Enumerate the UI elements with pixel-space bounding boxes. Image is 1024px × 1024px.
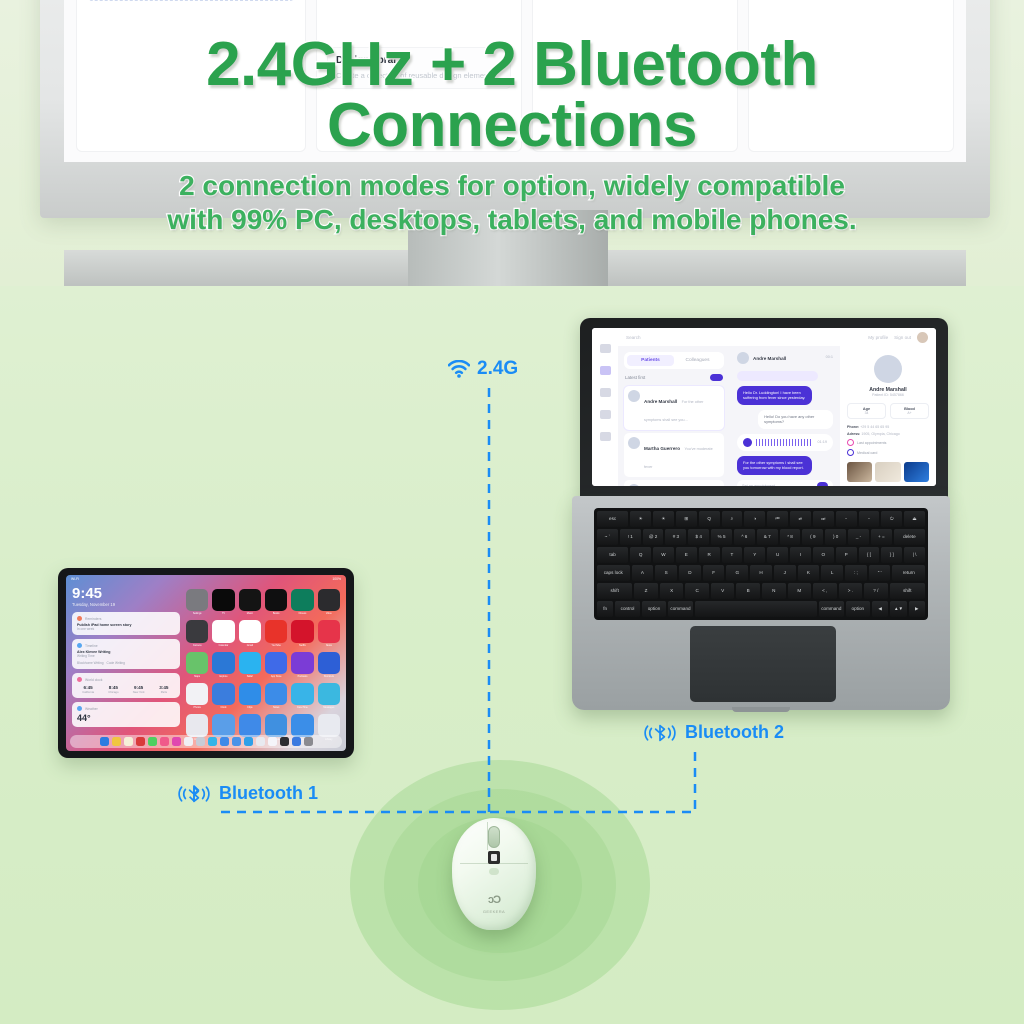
play-icon[interactable]	[743, 438, 752, 447]
app-icon[interactable]	[265, 620, 287, 642]
chat-icon[interactable]	[600, 388, 611, 397]
key--[interactable]: ⏮	[767, 511, 788, 527]
key-space[interactable]	[695, 601, 817, 617]
app-label: Voice	[318, 612, 340, 615]
key-m[interactable]: M	[788, 583, 812, 599]
world-clock-cell: 8:45 Chicago	[102, 685, 124, 694]
keyboard-row: fncontroloptioncommandcommandoption◀▲▼▶	[597, 601, 925, 617]
app-icon[interactable]	[212, 620, 234, 642]
tablet-app[interactable]: Maps	[186, 652, 208, 678]
timeline-chip: Code Writing	[107, 661, 125, 665]
app-label: Music	[239, 612, 261, 615]
key--[interactable]: ☀	[630, 511, 651, 527]
tablet-app[interactable]: News	[318, 620, 340, 646]
app-label: Gmail	[239, 644, 261, 647]
list-item[interactable]: Eddie Roberson I'm prescribing these med…	[624, 480, 724, 486]
key-o[interactable]: O	[813, 547, 834, 563]
widget-header: World clock	[77, 677, 175, 682]
dock-icon[interactable]	[280, 737, 289, 746]
key--[interactable]: ⏻	[881, 511, 902, 527]
key--5[interactable]: % 5	[711, 529, 732, 545]
key--[interactable]: ◑	[744, 511, 765, 527]
tablet-app[interactable]: Shortcuts	[318, 652, 340, 678]
dock-icon[interactable]	[124, 737, 133, 746]
key--[interactable]: ⌕	[722, 511, 743, 527]
chat-header-name: Andre Marshall	[753, 356, 786, 361]
action-label: Last appointments	[857, 441, 886, 445]
key--2[interactable]: @ 2	[643, 529, 664, 545]
chat-bubble: Hello! Do you have any other symptoms?	[758, 410, 833, 429]
key--4[interactable]: $ 4	[688, 529, 709, 545]
app-label: Camera	[186, 644, 208, 647]
label-bluetooth-2: Bluetooth 2	[642, 722, 784, 743]
app-icon[interactable]	[212, 683, 234, 705]
key--[interactable]: ▶	[909, 601, 925, 617]
keyboard-row: esc☀☀⊞Q⌕◑⏮⏯⏭ᵕᵕ⏻⏏	[597, 511, 925, 527]
brand-mark-icon: ɔƆ	[488, 894, 500, 906]
tablet-app[interactable]: App Store	[265, 652, 287, 678]
dock-icon[interactable]	[292, 737, 301, 746]
widget-header: Timeline	[77, 643, 175, 648]
app-icon[interactable]	[265, 589, 287, 611]
key--[interactable]: } ]	[881, 547, 902, 563]
notebook-icon[interactable]	[600, 410, 611, 419]
app-label: Explore	[212, 675, 234, 678]
keyboard-row: shiftZXCVBNM< ,> .? /shift	[597, 583, 925, 599]
app-label: Notes	[265, 706, 287, 709]
status-right: 100%	[332, 577, 341, 581]
dock-icon[interactable]	[100, 737, 109, 746]
dock-icon[interactable]	[304, 737, 313, 746]
tablet-app[interactable]: Fitness	[291, 589, 313, 615]
key-s[interactable]: S	[655, 565, 677, 581]
tablet-app[interactable]: TV	[212, 589, 234, 615]
app-icon[interactable]	[291, 652, 313, 674]
product-marketing-image: Time Total hours 23.7 hours ↗ 19% more t…	[0, 0, 1024, 1024]
label-24g: 2.4G	[448, 358, 518, 380]
key-return[interactable]: return	[892, 565, 925, 581]
tab-colleagues[interactable]: Colleagues	[674, 355, 721, 366]
headline-block: 2.4GHz + 2 Bluetooth Connections 2 conne…	[0, 34, 1024, 237]
key--[interactable]: ⏯	[790, 511, 811, 527]
tablet-app-grid: SettingsTVMusicBooksFitnessVoiceCameraCa…	[186, 586, 340, 741]
chat-bubble: For the other symptoms I shall see you t…	[737, 456, 812, 475]
app-label: TV	[212, 612, 234, 615]
thumbnail[interactable]	[847, 462, 872, 482]
world-clock-widget[interactable]: World clock 6:45 California 8:45 Chicago	[72, 673, 180, 698]
world-clock-row: 6:45 California 8:45 Chicago 9:45 New Yo…	[77, 685, 175, 694]
tablet-app[interactable]: Settings	[186, 589, 208, 615]
key-n[interactable]: N	[762, 583, 786, 599]
tablet-app[interactable]: FaceTime	[291, 683, 313, 709]
key-option[interactable]: option	[846, 601, 870, 617]
timeline-chips: Blockhome Writing Code Writing	[77, 661, 175, 665]
key--[interactable]: ~ `	[597, 529, 618, 545]
app-icon[interactable]	[318, 652, 340, 674]
widget-header-text: World clock	[85, 678, 102, 682]
tablet-app[interactable]: Photos	[186, 683, 208, 709]
widget-header-text: Weather	[85, 707, 98, 711]
tab-patients[interactable]: Patients	[627, 355, 674, 366]
list-tabs: Patients Colleagues	[624, 352, 724, 369]
thumbnail[interactable]	[904, 462, 929, 482]
dock-icon[interactable]	[268, 737, 277, 746]
world-clock-cell: 9:45 New York	[128, 685, 150, 694]
key-delete[interactable]: delete	[894, 529, 925, 545]
app-label: Shortcuts	[318, 675, 340, 678]
laptop-keyboard[interactable]: esc☀☀⊞Q⌕◑⏮⏯⏭ᵕᵕ⏻⏏~ `! 1@ 2# 3$ 4% 5^ 6& 7…	[594, 508, 928, 620]
key-y[interactable]: Y	[744, 547, 765, 563]
app-icon[interactable]	[291, 683, 313, 705]
key-i[interactable]: I	[790, 547, 811, 563]
app-icon[interactable]	[318, 620, 340, 642]
add-project-button[interactable]: + Add Project	[87, 0, 295, 1]
widget-sub: In one week	[77, 627, 175, 631]
key-l[interactable]: L	[821, 565, 843, 581]
key-e[interactable]: E	[676, 547, 697, 563]
profile-id: Patient ID: 5457866	[847, 393, 929, 397]
dock-icon[interactable]	[196, 737, 205, 746]
key--3[interactable]: # 3	[665, 529, 686, 545]
chat-audio-message[interactable]: 01:19	[737, 434, 833, 451]
app-icon[interactable]	[265, 652, 287, 674]
dock-icon[interactable]	[112, 737, 121, 746]
audio-duration: 01:19	[817, 440, 827, 446]
clock-city: California	[77, 690, 99, 694]
weather-widget[interactable]: Weather 44°	[72, 702, 180, 727]
thumbnail[interactable]	[875, 462, 900, 482]
tablet-app[interactable]: Camera	[186, 620, 208, 646]
tablet-app[interactable]: YouTube	[265, 620, 287, 646]
key-b[interactable]: B	[736, 583, 760, 599]
mouse-brand-logo: ɔƆ GEEKERA	[452, 890, 536, 914]
dock-icon[interactable]	[184, 737, 193, 746]
clock-city: Chicago	[102, 690, 124, 694]
key--1[interactable]: ! 1	[620, 529, 641, 545]
reminders-icon	[77, 616, 82, 621]
headline-line-2: Connections	[0, 95, 1024, 156]
mouse-dpi-button[interactable]	[488, 851, 500, 864]
key--[interactable]: ▲▼	[890, 601, 906, 617]
app-label: Messages	[318, 706, 340, 709]
key--[interactable]: ⊞	[676, 511, 697, 527]
avatar[interactable]	[917, 332, 928, 343]
key--[interactable]: _ -	[848, 529, 869, 545]
world-clock-cell: 3:45 Paris	[153, 685, 175, 694]
brand-name: GEEKERA	[452, 909, 536, 914]
label-bluetooth-1-text: Bluetooth 1	[219, 783, 318, 804]
stat-value: A+	[891, 411, 928, 415]
key-v[interactable]: V	[711, 583, 735, 599]
dock-icon[interactable]	[256, 737, 265, 746]
key-u[interactable]: U	[767, 547, 788, 563]
reminders-widget[interactable]: Reminders Publish iPad home screen story…	[72, 612, 180, 635]
my-profile-link[interactable]: My profile	[868, 335, 888, 340]
tablet-screen: Wi-Fi 100% 9:45 Tuesday, November 19 Rem…	[66, 575, 346, 751]
mouse-scroll-wheel[interactable]	[488, 826, 500, 848]
app-label: Podcasts	[291, 675, 313, 678]
key--[interactable]: " '	[869, 565, 891, 581]
key-h[interactable]: H	[750, 565, 772, 581]
tablet-app[interactable]: Messages	[318, 683, 340, 709]
chat-header-meta: 00:1	[826, 355, 833, 361]
key--[interactable]: ⏭	[813, 511, 834, 527]
key--[interactable]: : ;	[845, 565, 867, 581]
app-icon[interactable]	[265, 714, 287, 736]
tablet-clock: 9:45	[72, 586, 180, 601]
bluetooth-broadcast-icon	[642, 723, 678, 743]
wifi-icon	[448, 360, 470, 378]
key-command[interactable]: command	[819, 601, 843, 617]
key-k[interactable]: K	[798, 565, 820, 581]
dock-icon[interactable]	[220, 737, 229, 746]
key-c[interactable]: C	[685, 583, 709, 599]
profile-thumbnails	[847, 462, 929, 482]
tablet-app[interactable]: Explore	[212, 652, 234, 678]
field-value: 1905, Olympia, Chicago	[861, 432, 899, 436]
dock-icon[interactable]	[208, 737, 217, 746]
compose-button[interactable]	[710, 374, 723, 381]
app-icon[interactable]	[186, 652, 208, 674]
avatar	[628, 484, 640, 486]
app-icon[interactable]	[318, 683, 340, 705]
app-icon[interactable]	[186, 620, 208, 642]
key--[interactable]: ☀	[653, 511, 674, 527]
app-label: Fitness	[291, 612, 313, 615]
app-icon[interactable]	[291, 714, 313, 736]
app-icon[interactable]	[291, 589, 313, 611]
key-shift[interactable]: shift	[890, 583, 925, 599]
field-value: +29 5 44 65 65 95	[860, 425, 889, 429]
tablet-app[interactable]: Podcasts	[291, 652, 313, 678]
timeline-icon	[77, 643, 82, 648]
dock-icon[interactable]	[160, 737, 169, 746]
status-left: Wi-Fi	[71, 577, 79, 581]
tablet-app[interactable]: Safari	[239, 652, 261, 678]
chat-input[interactable]: Set an appointment	[737, 480, 833, 486]
bluetooth-broadcast-icon	[176, 784, 212, 804]
mouse-mode-button[interactable]	[489, 868, 499, 875]
key-fn[interactable]: fn	[597, 601, 613, 617]
list-item-name: Martha Guerrero	[644, 446, 680, 451]
app-label: Maps	[186, 675, 208, 678]
app-label: Clock	[212, 706, 234, 709]
search-input[interactable]: Search	[626, 335, 862, 340]
app-label: News	[318, 644, 340, 647]
key-shift[interactable]: shift	[597, 583, 632, 599]
dock-icon[interactable]	[136, 737, 145, 746]
key-z[interactable]: Z	[634, 583, 658, 599]
clock-city: New York	[128, 690, 150, 694]
tablet-home-screen: 9:45 Tuesday, November 19 Reminders Publ…	[66, 583, 346, 741]
facility-icon[interactable]	[600, 366, 611, 375]
dock-icon[interactable]	[172, 737, 181, 746]
key--[interactable]: + =	[871, 529, 892, 545]
label-bluetooth-1: Bluetooth 1	[176, 783, 318, 804]
key--7[interactable]: & 7	[757, 529, 778, 545]
tablet-app[interactable]: Gmail	[239, 620, 261, 646]
key-f[interactable]: F	[703, 565, 725, 581]
app-icon[interactable]	[318, 589, 340, 611]
list-item[interactable]: Martha Guerrero You've moderate fever	[624, 433, 724, 477]
key-q[interactable]: Q	[630, 547, 651, 563]
dock-icon[interactable]	[148, 737, 157, 746]
key-q[interactable]: Q	[699, 511, 720, 527]
key-command[interactable]: command	[668, 601, 692, 617]
timeline-widget[interactable]: Timeline Alex Kievee Writing Writing Tim…	[72, 639, 180, 669]
tablet-status-bar: Wi-Fi 100%	[66, 575, 346, 583]
key-a[interactable]: A	[632, 565, 654, 581]
avatar	[628, 437, 640, 449]
app-label: Calendar	[212, 644, 234, 647]
calendar-ring-icon	[847, 439, 854, 446]
chat-header: Andre Marshall 00:1	[737, 352, 833, 364]
headline-line-1: 2.4GHz + 2 Bluetooth	[0, 34, 1024, 95]
conversation-list: Patients Colleagues Latest first Andre	[618, 346, 730, 486]
tablet-date: Tuesday, November 19	[72, 602, 180, 607]
tablet-app[interactable]: Netflix	[291, 620, 313, 646]
sign-out-link[interactable]: Sign out	[894, 335, 911, 340]
tablet-widget-column: 9:45 Tuesday, November 19 Reminders Publ…	[72, 586, 180, 741]
profile-field: Phone: +29 5 44 65 65 95	[847, 425, 929, 429]
key--[interactable]: { [	[859, 547, 880, 563]
settings-icon[interactable]	[600, 432, 611, 441]
app-icon[interactable]	[186, 714, 208, 736]
laptop-lid: Search My profile Sign out Patients Coll…	[580, 318, 948, 500]
app-icon[interactable]	[186, 589, 208, 611]
dock-icon[interactable]	[244, 737, 253, 746]
app-label: Safari	[239, 675, 261, 678]
app-label: YouTube	[265, 644, 287, 647]
app-icon[interactable]	[186, 683, 208, 705]
key-w[interactable]: W	[653, 547, 674, 563]
key--0[interactable]: ) 0	[825, 529, 846, 545]
tablet-device: Wi-Fi 100% 9:45 Tuesday, November 19 Rem…	[58, 568, 354, 758]
tablet-app[interactable]: Notes	[265, 683, 287, 709]
chat-bubble: Hello Dr. Luddington! I have been suffer…	[737, 386, 812, 405]
app-icon[interactable]	[239, 714, 261, 736]
app-icon[interactable]	[265, 683, 287, 705]
app-label: Photos	[186, 706, 208, 709]
app-label: Netflix	[291, 644, 313, 647]
key--[interactable]: ? /	[864, 583, 888, 599]
key--[interactable]: > .	[839, 583, 863, 599]
widget-header: Reminders	[77, 616, 175, 621]
widget-header-text: Reminders	[85, 617, 101, 621]
app-icon[interactable]	[291, 620, 313, 642]
app-label: App Store	[265, 675, 287, 678]
tablet-app[interactable]: Music	[239, 589, 261, 615]
profile-field: Adress: 1905, Olympia, Chicago	[847, 432, 929, 436]
key--[interactable]: < ,	[813, 583, 837, 599]
key--[interactable]: | \	[904, 547, 925, 563]
subhead-line-2: with 99% PC, desktops, tablets, and mobi…	[0, 203, 1024, 237]
app-icon[interactable]	[239, 620, 261, 642]
laptop-nav-rail	[592, 328, 618, 486]
key--[interactable]: ᵕ	[859, 511, 880, 527]
app-icon[interactable]	[212, 652, 234, 674]
key-esc[interactable]: esc	[597, 511, 628, 527]
sort-dropdown[interactable]: Latest first	[625, 375, 645, 380]
key-x[interactable]: X	[660, 583, 684, 599]
key-option[interactable]: option	[642, 601, 666, 617]
tablet-app[interactable]: Calendar	[212, 620, 234, 646]
app-label: Settings	[186, 612, 208, 615]
tablet-app[interactable]: Voice	[318, 589, 340, 615]
dashboard-icon[interactable]	[600, 344, 611, 353]
key--9[interactable]: ( 9	[802, 529, 823, 545]
key-p[interactable]: P	[836, 547, 857, 563]
stat-age: Age 34	[847, 403, 886, 419]
app-icon[interactable]	[239, 683, 261, 705]
app-icon[interactable]	[239, 652, 261, 674]
wireless-mouse[interactable]: ɔƆ GEEKERA	[452, 818, 536, 930]
app-icon[interactable]	[318, 714, 340, 736]
app-label: FaceTime	[291, 706, 313, 709]
tablet-app[interactable]: Clips	[239, 683, 261, 709]
chat-bubble-placeholder	[737, 371, 818, 381]
dock-icon[interactable]	[232, 737, 241, 746]
list-item[interactable]: Andre Marshall For the other symptoms sh…	[624, 386, 724, 430]
key-tab[interactable]: tab	[597, 547, 628, 563]
tablet-app[interactable]: Clock	[212, 683, 234, 709]
waveform	[756, 439, 813, 446]
key-t[interactable]: T	[722, 547, 743, 563]
keyboard-row: caps lockASDFGHJKL: ;" 'return	[597, 565, 925, 581]
send-button[interactable]	[817, 482, 828, 486]
tablet-app[interactable]: Books	[265, 589, 287, 615]
key--6[interactable]: ^ 6	[734, 529, 755, 545]
stat-value: 34	[848, 411, 885, 415]
laptop-device: Search My profile Sign out Patients Coll…	[572, 318, 950, 718]
avatar	[874, 355, 902, 383]
app-icon[interactable]	[212, 589, 234, 611]
laptop-columns: Patients Colleagues Latest first Andre	[618, 328, 936, 486]
laptop-trackpad[interactable]	[690, 626, 836, 702]
tablet-dock[interactable]	[70, 735, 342, 748]
key-caps-lock[interactable]: caps lock	[597, 565, 630, 581]
key-control[interactable]: control	[615, 601, 639, 617]
app-icon[interactable]	[239, 589, 261, 611]
key--[interactable]: ⏏	[904, 511, 925, 527]
key-d[interactable]: D	[679, 565, 701, 581]
key-g[interactable]: G	[726, 565, 748, 581]
profile-action[interactable]: Last appointments	[847, 439, 929, 446]
sort-row: Latest first	[625, 374, 723, 381]
clock-icon	[77, 677, 82, 682]
key-r[interactable]: R	[699, 547, 720, 563]
keyboard-row: tabQWERTYUIOP{ [} ]| \	[597, 547, 925, 563]
app-icon[interactable]	[212, 714, 234, 736]
profile-action[interactable]: Medical card	[847, 449, 929, 456]
app-label: Clips	[239, 706, 261, 709]
key--8[interactable]: * 8	[780, 529, 801, 545]
widget-sub: Writing Time	[77, 654, 175, 658]
stat-blood: Blood A+	[890, 403, 929, 419]
weather-temp: 44°	[77, 713, 175, 723]
laptop-lid-notch	[732, 707, 790, 712]
key--[interactable]: ◀	[872, 601, 888, 617]
world-clock-cell: 6:45 California	[77, 685, 99, 694]
laptop-app-ui: Search My profile Sign out Patients Coll…	[592, 328, 936, 486]
subhead-line-1: 2 connection modes for option, widely co…	[0, 169, 1024, 203]
clock-city: Paris	[153, 690, 175, 694]
key--[interactable]: ᵕ	[836, 511, 857, 527]
label-24g-text: 2.4G	[477, 358, 518, 380]
key-j[interactable]: J	[774, 565, 796, 581]
profile-stats: Age 34 Blood A+	[847, 403, 929, 419]
list-item-name: Andre Marshall	[644, 399, 677, 404]
